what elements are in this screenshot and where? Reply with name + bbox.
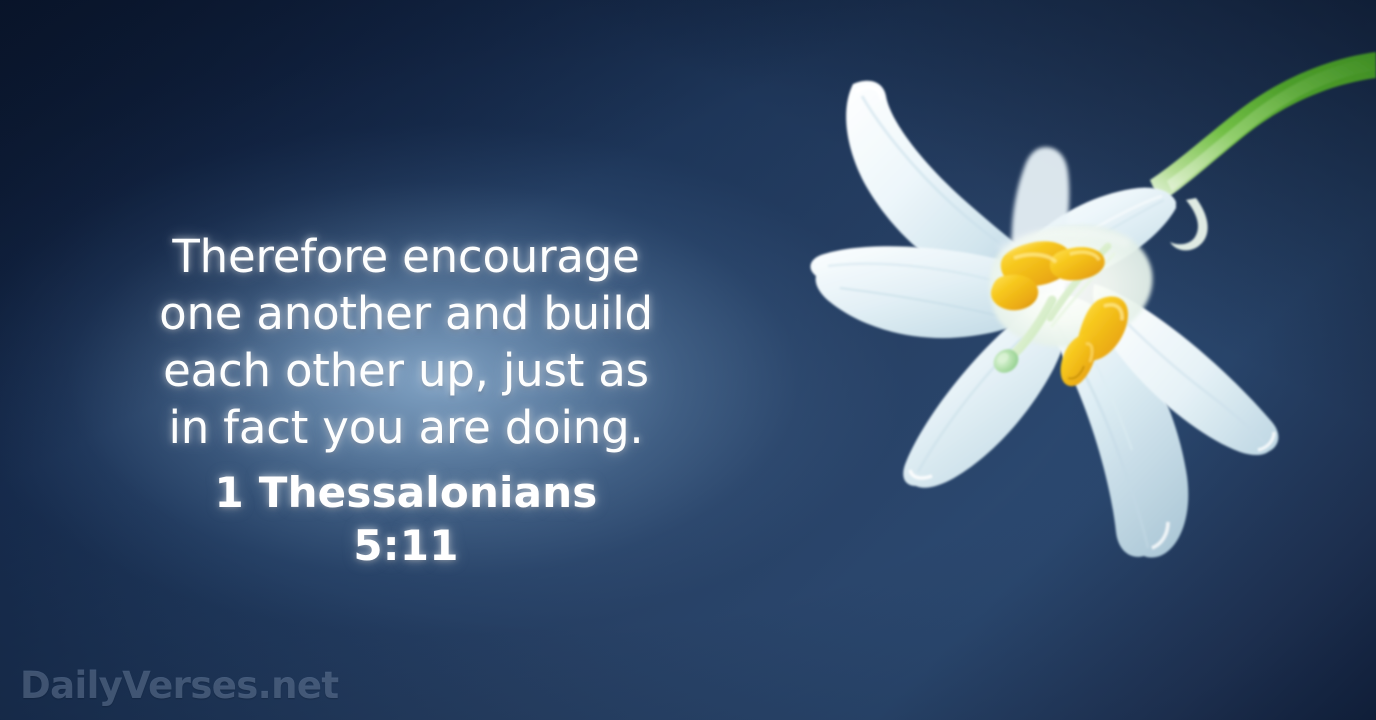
verse-reference: 1 Thessalonians 5:11 [108,466,704,572]
verse-image-canvas: Therefore encourage one another and buil… [0,0,1376,720]
site-watermark: DailyVerses.net [20,664,338,707]
verse-block: Therefore encourage one another and buil… [108,228,704,572]
verse-text: Therefore encourage one another and buil… [108,228,704,456]
